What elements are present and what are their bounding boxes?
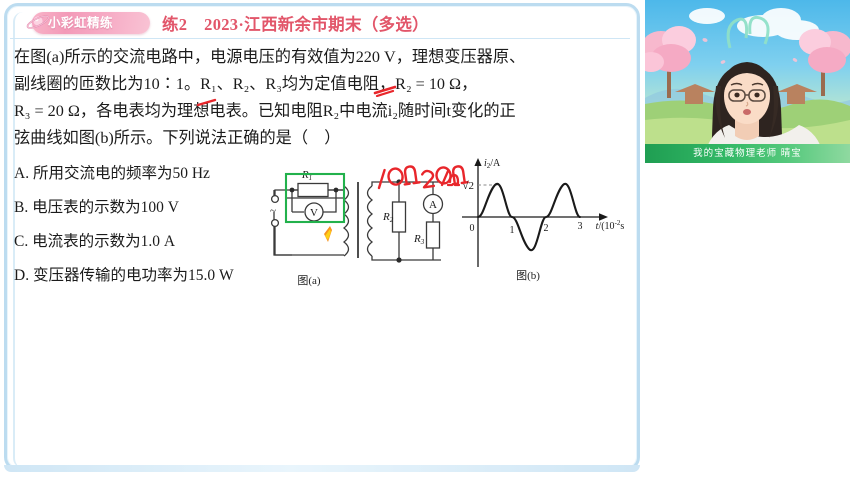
slide-root: 小彩虹精练 练2 2023·江西新余市期末（多选） 晴宝物理 考神附体 在图(a… [0,0,850,478]
red-underline-mark-2 [196,95,218,113]
video-overlay[interactable]: 我的宝藏物理老师 晴宝 [645,0,850,163]
question-stem: 在图(a)所示的交流电路中，电源电压的有效值为220 V，理想变压器原、 副线圈… [14,44,628,152]
red-underline-mark-1 [373,84,399,102]
figure-b-caption: 图(b) [440,267,616,283]
stem-line-2: 副线圈的匝数比为10∶1。R₁、R₂、R₃均为定值电阻，R₂ = 10 Ω， [14,71,628,98]
xtick-2: 2 [544,223,549,234]
sine-wave-chart: 0 1 2 3 √2 i2/A t/(10-2s [452,155,628,277]
stem-line-4: 弦曲线如图(b)所示。下列说法正确的是（ ） [14,125,628,152]
page-title: 练2 2023·江西新余市期末（多选） [162,11,429,35]
x-axis-label: t/(10-2s [596,219,625,232]
label-r1: R1 [301,169,312,182]
voltmeter-label: V [310,207,318,219]
xtick-3: 3 [578,221,583,232]
ac-source-symbol: ~ [270,205,276,217]
figure-b-graph: 0 1 2 3 √2 i2/A t/(10-2s 图(b) [452,155,628,295]
figure-a-caption: 图(a) [214,272,404,288]
y-axis-label: i2/A [484,158,501,170]
logo-text: 小彩虹精练 [48,15,144,31]
xtick-1: 1 [510,225,515,236]
option-b[interactable]: B. 电压表的示数为100 V [14,199,264,216]
annotation-squiggle [440,168,460,193]
stem-line-1: 在图(a)所示的交流电路中，电源电压的有效值为220 V，理想变压器原、 [14,44,628,71]
video-banner: 我的宝藏物理老师 晴宝 [645,144,850,163]
option-a[interactable]: A. 所用交流电的频率为50 Hz [14,165,264,182]
video-scene [645,0,850,163]
ytick-sqrt2: √2 [462,180,474,192]
label-r3: R3 [413,233,425,246]
option-c[interactable]: C. 电流表的示数为1.0 A [14,233,264,250]
slide-header: 小彩虹精练 练2 2023·江西新余市期末（多选） [10,8,628,38]
header-divider [10,38,630,39]
ammeter-label: A [429,199,437,211]
xtick-0: 0 [470,223,475,234]
orange-cursor-marker [324,226,332,242]
stem-line-3: R₃ = 20 Ω，各电表均为理想电表。已知电阻R₂中电流i₂随时间t变化的正 [14,98,628,125]
